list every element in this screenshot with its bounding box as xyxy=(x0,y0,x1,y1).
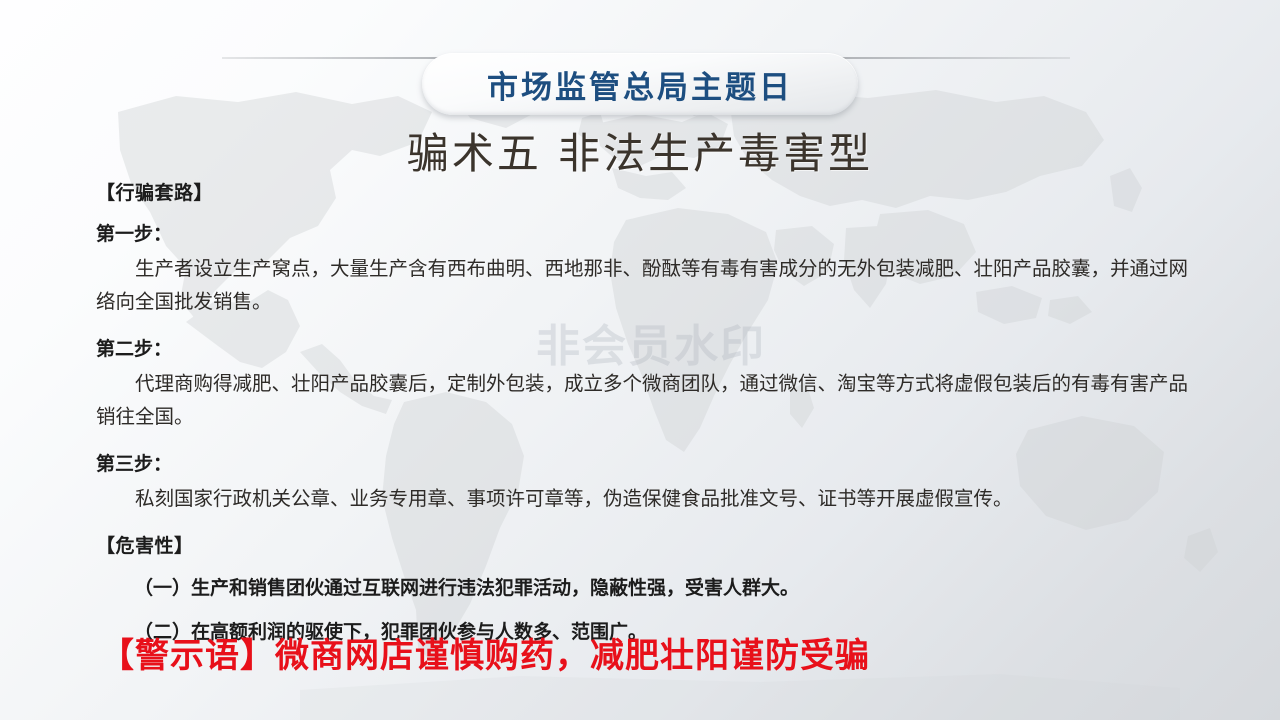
step-label-3: 第三步： xyxy=(96,449,1188,476)
step-block-1: 第一步： 生产者设立生产窝点，大量生产含有西布曲明、西地那非、酚酞等有毒有害成分… xyxy=(96,219,1188,318)
slide-root: 非会员水印 市场监管总局主题日 骗术五 非法生产毒害型 【行骗套路】 第一步： … xyxy=(0,0,1280,720)
section-label-harm: 【危害性】 xyxy=(96,531,1188,558)
slide-body: 【行骗套路】 第一步： 生产者设立生产窝点，大量生产含有西布曲明、西地那非、酚酞… xyxy=(96,178,1188,660)
section-label-routine: 【行骗套路】 xyxy=(96,178,1188,205)
header-title-text: 市场监管总局主题日 xyxy=(487,62,793,107)
step-label-2: 第二步： xyxy=(96,334,1188,361)
harm-item-1: （一）生产和销售团伙通过互联网进行违法犯罪活动，隐蔽性强，受害人群大。 xyxy=(96,572,1188,604)
header-title-pill: 市场监管总局主题日 xyxy=(422,53,858,115)
step-body-2: 代理商购得减肥、壮阳产品胶囊后，定制外包装，成立多个微商团队，通过微信、淘宝等方… xyxy=(96,367,1188,433)
page-title: 骗术五 非法生产毒害型 xyxy=(0,120,1280,181)
header-band: 市场监管总局主题日 xyxy=(0,26,1280,94)
step-block-3: 第三步： 私刻国家行政机关公章、业务专用章、事项许可章等，伪造保健食品批准文号、… xyxy=(96,449,1188,515)
step-label-1: 第一步： xyxy=(96,219,1188,246)
step-block-2: 第二步： 代理商购得减肥、壮阳产品胶囊后，定制外包装，成立多个微商团队，通过微信… xyxy=(96,334,1188,433)
step-body-1: 生产者设立生产窝点，大量生产含有西布曲明、西地那非、酚酞等有毒有害成分的无外包装… xyxy=(96,252,1188,318)
warning-text: 【警示语】微商网店谨慎购药，减肥壮阳谨防受骗 xyxy=(100,628,870,677)
step-body-3: 私刻国家行政机关公章、业务专用章、事项许可章等，伪造保健食品批准文号、证书等开展… xyxy=(96,482,1188,515)
